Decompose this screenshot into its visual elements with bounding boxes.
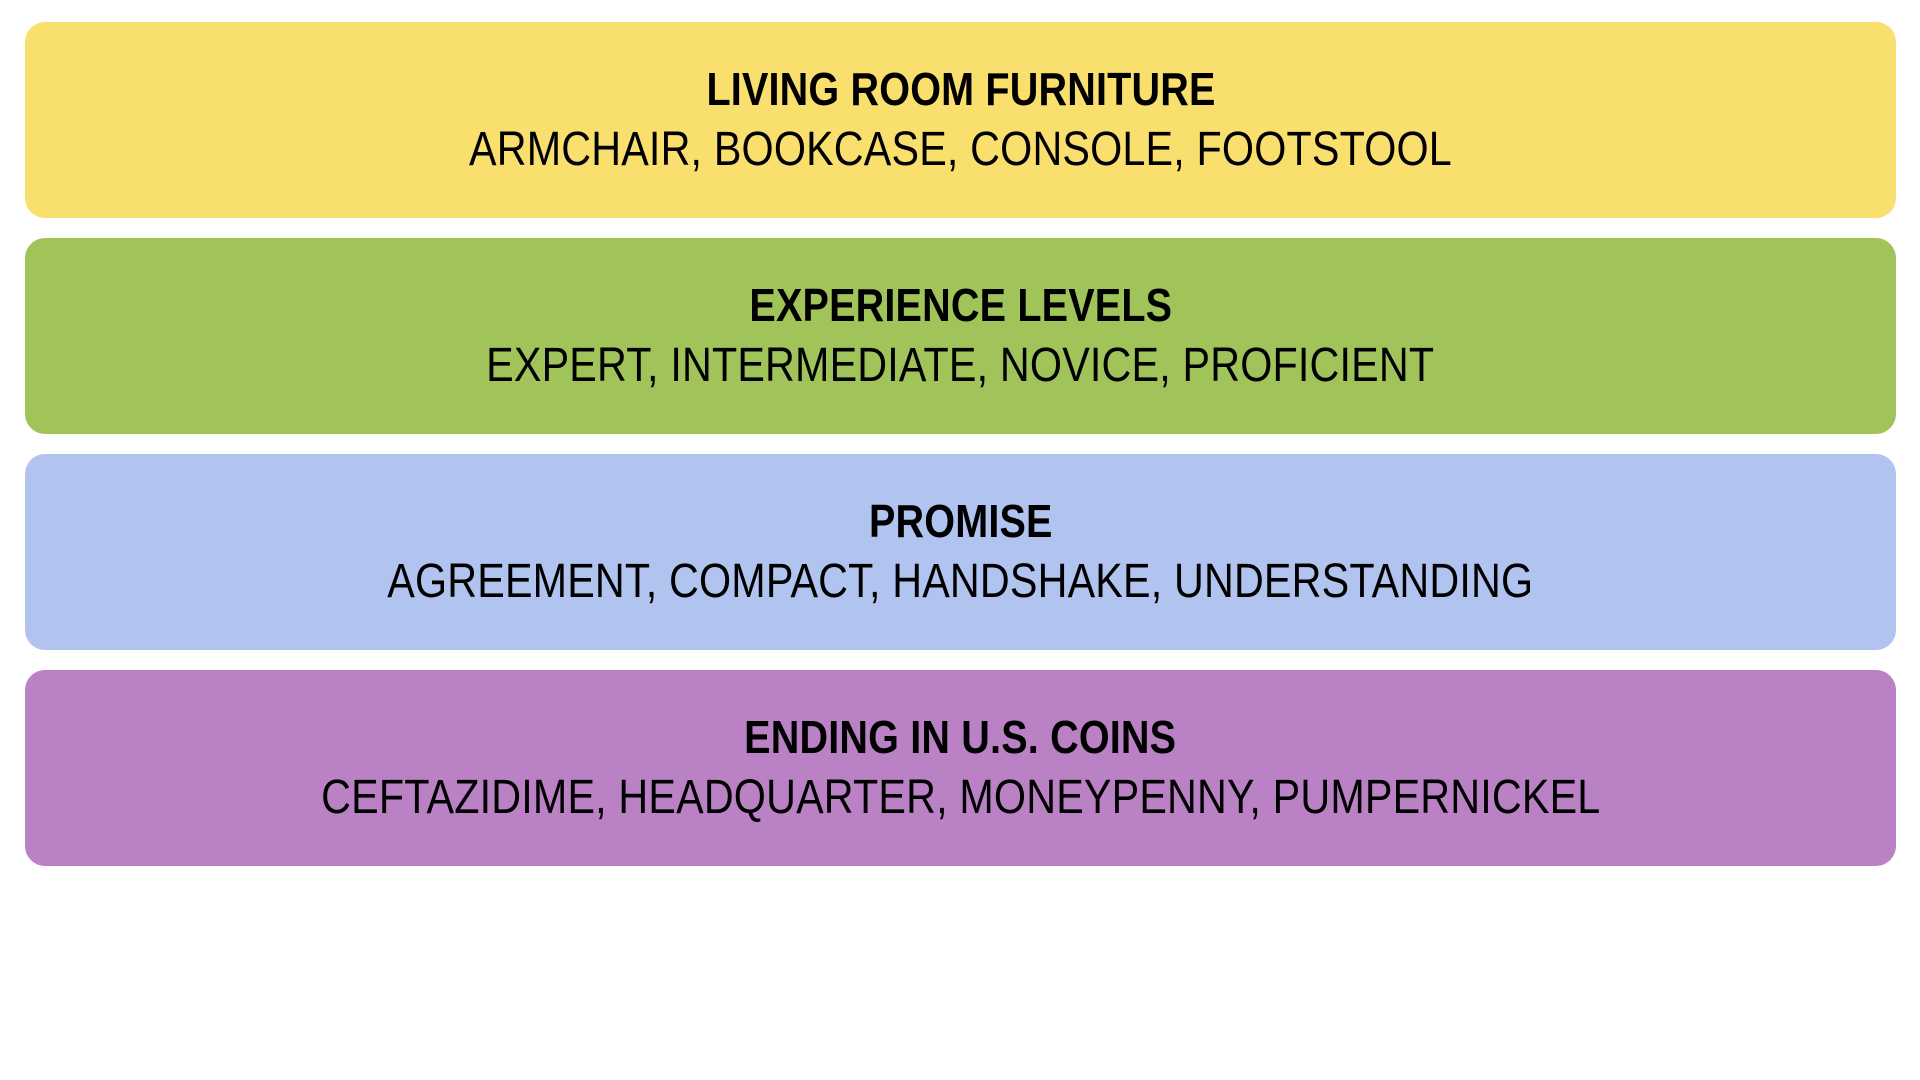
group-category-title: EXPERIENCE LEVELS [749, 282, 1172, 328]
group-category-title: LIVING ROOM FURNITURE [706, 66, 1215, 112]
group-category-title: ENDING IN U.S. COINS [744, 714, 1176, 760]
group-category-title: PROMISE [869, 498, 1053, 544]
group-band-blue: PROMISE AGREEMENT, COMPACT, HANDSHAKE, U… [25, 454, 1896, 650]
group-members-list: CEFTAZIDIME, HEADQUARTER, MONEYPENNY, PU… [321, 774, 1600, 822]
group-members-list: EXPERT, INTERMEDIATE, NOVICE, PROFICIENT [486, 342, 1434, 390]
group-band-yellow: LIVING ROOM FURNITURE ARMCHAIR, BOOKCASE… [25, 22, 1896, 218]
group-members-list: ARMCHAIR, BOOKCASE, CONSOLE, FOOTSTOOL [469, 126, 1452, 174]
group-members-list: AGREEMENT, COMPACT, HANDSHAKE, UNDERSTAN… [388, 558, 1534, 606]
group-band-purple: ENDING IN U.S. COINS CEFTAZIDIME, HEADQU… [25, 670, 1896, 866]
group-band-green: EXPERIENCE LEVELS EXPERT, INTERMEDIATE, … [25, 238, 1896, 434]
connections-solution-board: LIVING ROOM FURNITURE ARMCHAIR, BOOKCASE… [0, 0, 1920, 1080]
